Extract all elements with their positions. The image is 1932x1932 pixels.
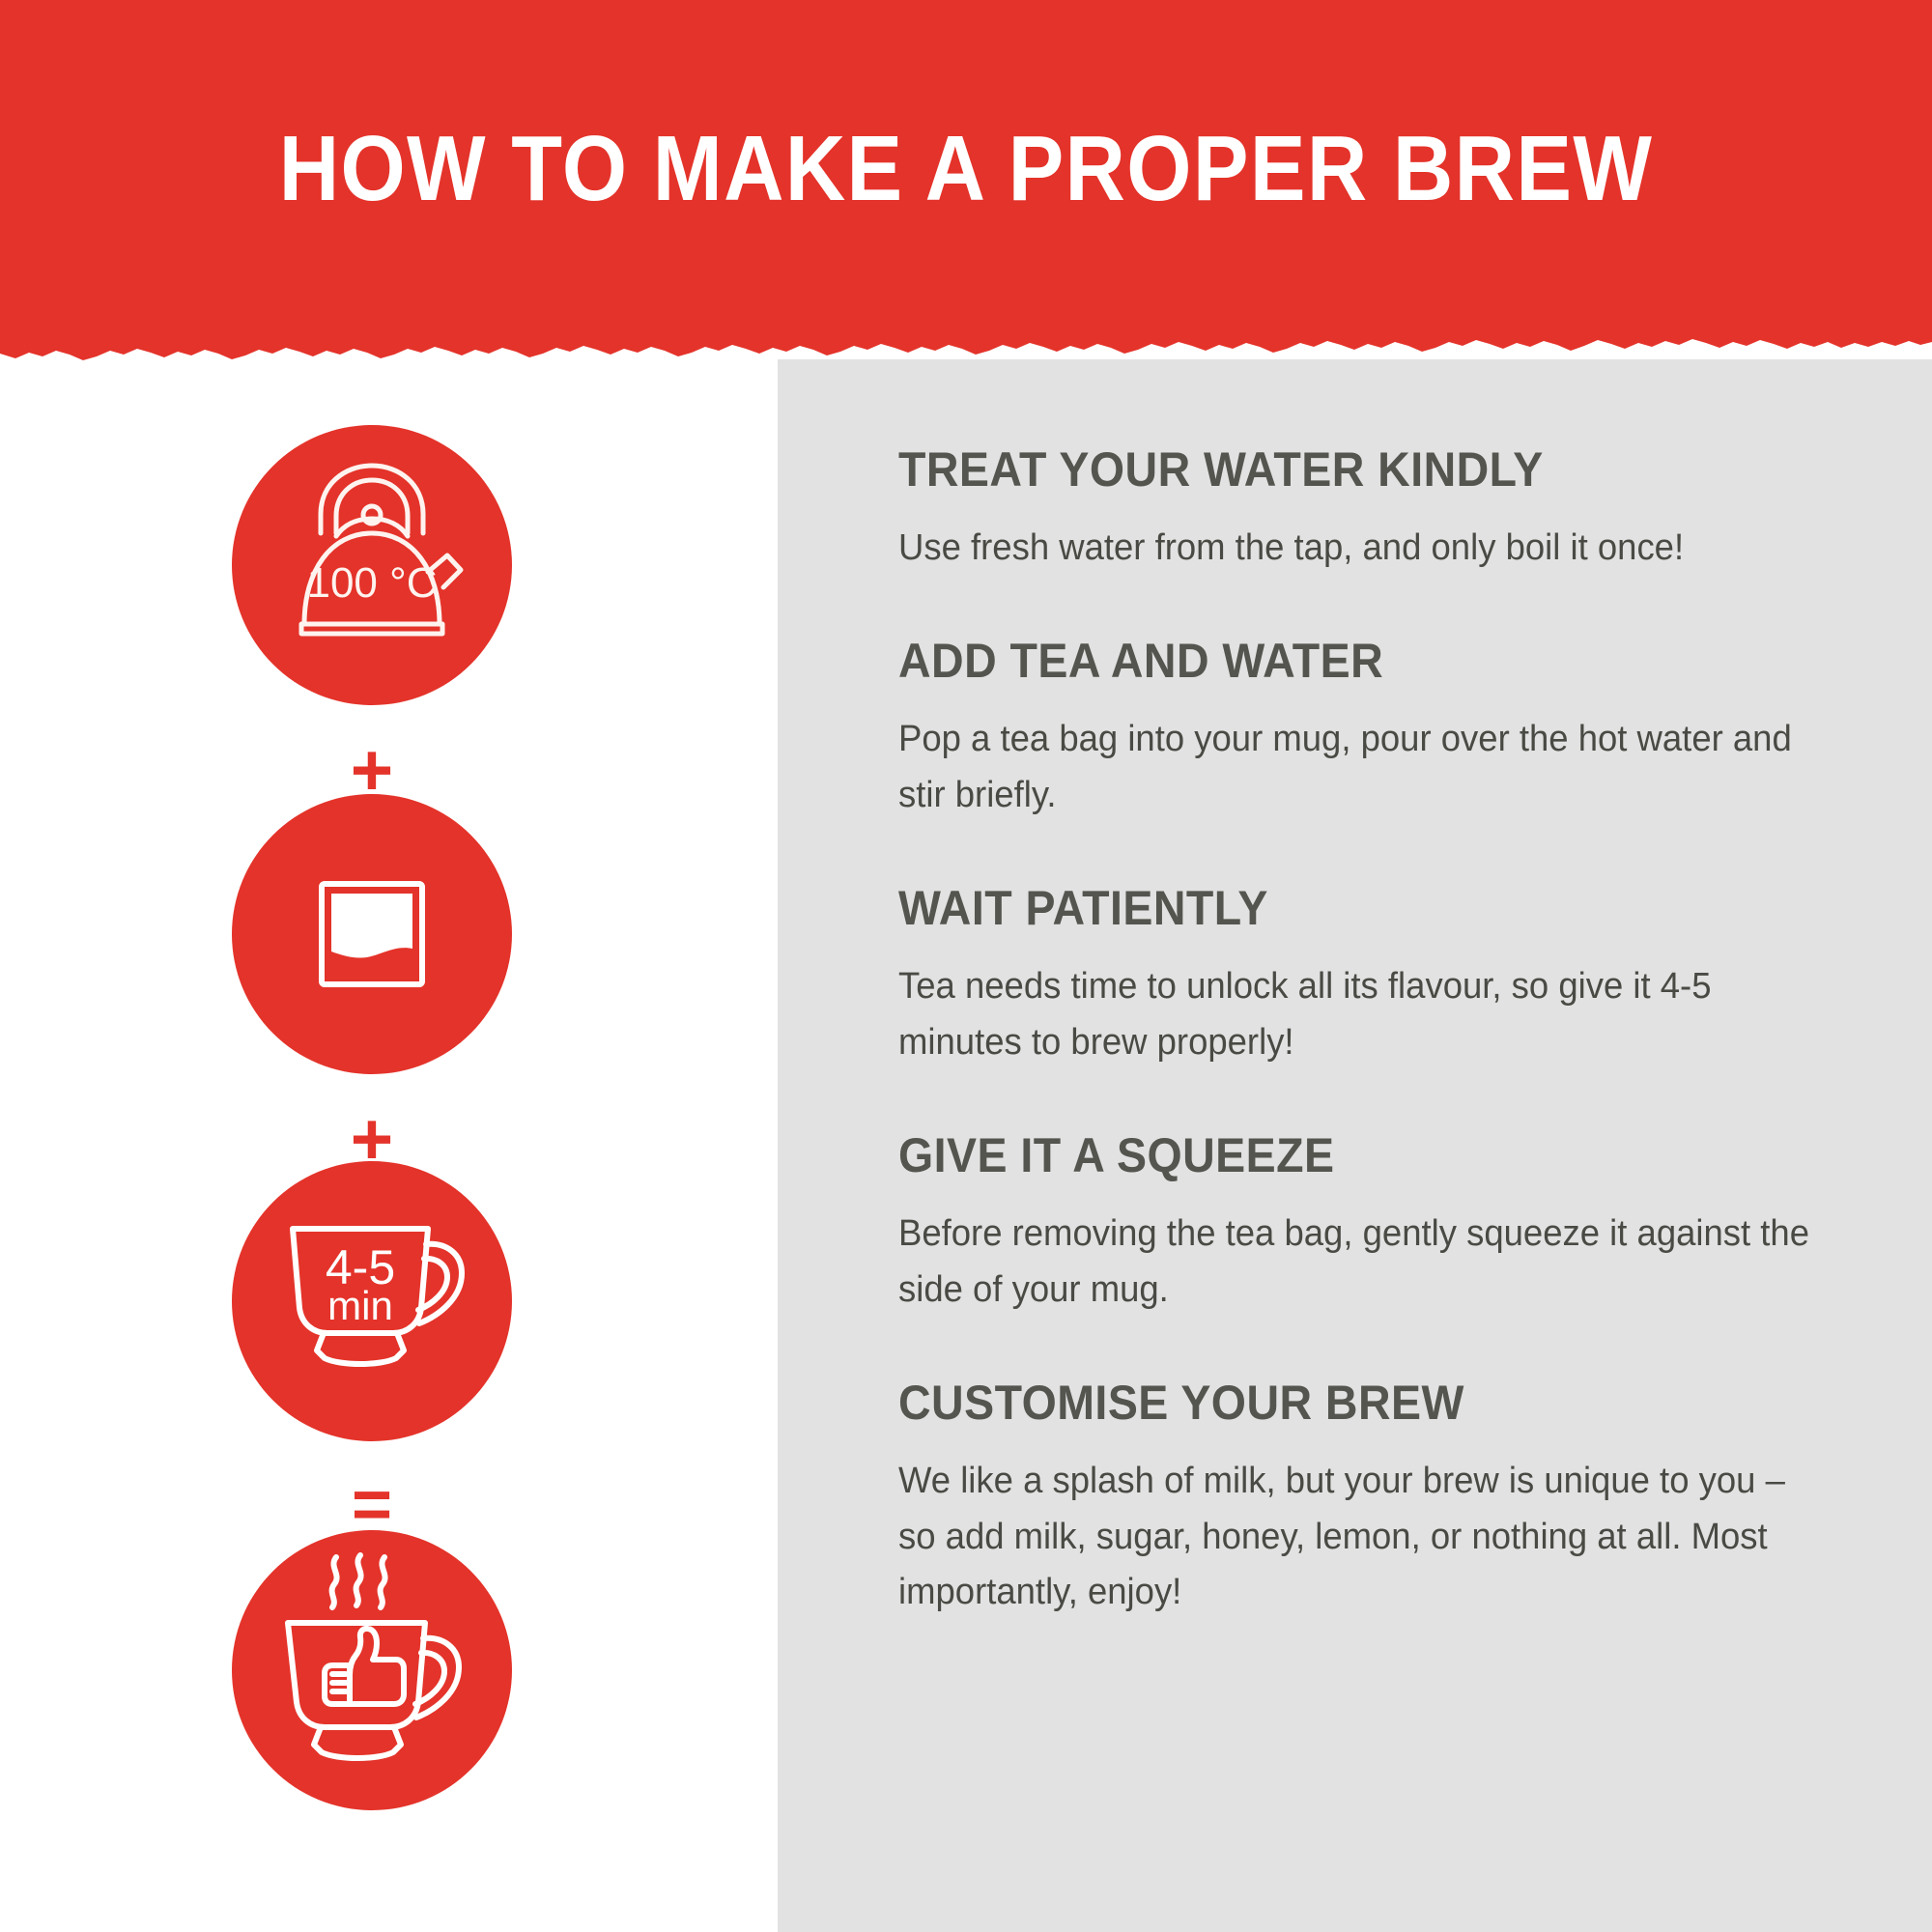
- icon-column: 100 °C + +: [0, 359, 778, 1932]
- step-body: We like a splash of milk, but your brew …: [898, 1454, 1826, 1621]
- step-body: Pop a tea bag into your mug, pour over t…: [898, 712, 1826, 824]
- header-band: HOW TO MAKE A PROPER BREW: [0, 0, 1932, 359]
- step-body: Before removing the tea bag, gently sque…: [898, 1207, 1826, 1319]
- step-title: GIVE IT A SQUEEZE: [898, 1130, 1761, 1181]
- teacup-time-line2: min: [327, 1283, 393, 1328]
- infographic-page: HOW TO MAKE A PROPER BREW: [0, 0, 1932, 1932]
- step-body: Tea needs time to unlock all its flavour…: [898, 959, 1826, 1071]
- step-item: TREAT YOUR WATER KINDLY Use fresh water …: [898, 444, 1826, 576]
- step-title: ADD TEA AND WATER: [898, 636, 1761, 687]
- teacup-timer-icon: 4-5 min: [232, 1161, 512, 1441]
- kettle-temperature-label: 100 °C: [232, 425, 512, 705]
- step-title: WAIT PATIENTLY: [898, 883, 1761, 934]
- step-title: TREAT YOUR WATER KINDLY: [898, 444, 1761, 496]
- step-item: GIVE IT A SQUEEZE Before removing the te…: [898, 1130, 1826, 1318]
- steps-list: TREAT YOUR WATER KINDLY Use fresh water …: [898, 444, 1826, 1621]
- page-title: HOW TO MAKE A PROPER BREW: [97, 0, 1835, 338]
- step-item: WAIT PATIENTLY Tea needs time to unlock …: [898, 883, 1826, 1070]
- step-item: ADD TEA AND WATER Pop a tea bag into you…: [898, 636, 1826, 823]
- step-body: Use fresh water from the tap, and only b…: [898, 521, 1826, 577]
- svg-text:100 °C: 100 °C: [306, 559, 437, 607]
- step-title: CUSTOMISE YOUR BREW: [898, 1378, 1761, 1429]
- tea-bag-icon: [232, 794, 512, 1074]
- kettle-icon: 100 °C: [232, 425, 512, 705]
- steaming-mug-thumbs-up-icon: [232, 1530, 512, 1810]
- step-item: CUSTOMISE YOUR BREW We like a splash of …: [898, 1378, 1826, 1621]
